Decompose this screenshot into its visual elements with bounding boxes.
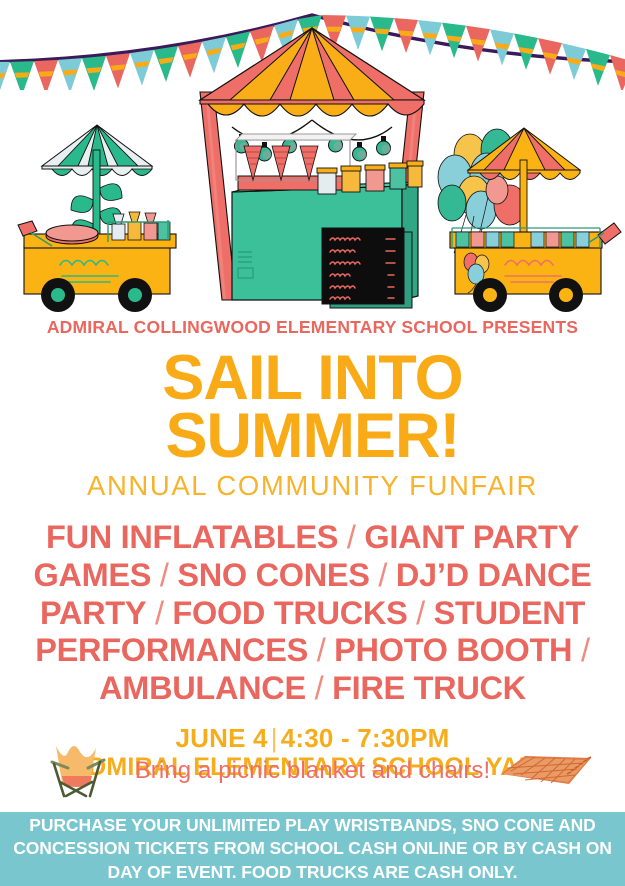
banner-text: PURCHASE YOUR UNLIMITED PLAY WRISTBANDS,… — [0, 814, 625, 883]
activity-separator: / — [308, 632, 334, 668]
activity-separator: / — [306, 670, 332, 706]
bring-row: Bring a picnic blanket and chairs! — [0, 740, 625, 802]
activity-item: FOOD TRUCKS — [172, 595, 407, 631]
activity-separator: / — [370, 557, 396, 593]
activity-separator: / — [151, 557, 177, 593]
title-line-2: SUMMER! — [0, 408, 625, 466]
bring-note: Bring a picnic blanket and chairs! — [135, 757, 491, 785]
poster-text-block: ADMIRAL COLLINGWOOD ELEMENTARY SCHOOL PR… — [0, 318, 625, 782]
activity-separator: / — [572, 632, 589, 668]
picnic-blanket-icon — [495, 750, 595, 792]
camp-chair-icon — [38, 738, 118, 800]
page-title: SAIL INTO SUMMER! — [0, 350, 625, 466]
subtitle: ANNUAL COMMUNITY FUNFAIR — [0, 470, 625, 502]
activity-separator: / — [407, 595, 433, 631]
presents-line: ADMIRAL COLLINGWOOD ELEMENTARY SCHOOL PR… — [0, 318, 625, 337]
activity-item: PHOTO BOOTH — [334, 632, 572, 668]
poster-root: ADMIRAL COLLINGWOOD ELEMENTARY SCHOOL PR… — [0, 0, 625, 886]
activity-item: SNO CONES — [177, 557, 369, 593]
activities-list: FUN INFLATABLES / GIANT PARTY GAMES / SN… — [0, 519, 625, 707]
chalkboard-menu — [322, 228, 412, 308]
activity-separator: / — [146, 595, 172, 631]
activity-item: FIRE TRUCK — [332, 670, 526, 706]
activity-separator: / — [338, 519, 364, 555]
activity-item: FUN INFLATABLES — [46, 519, 338, 555]
left-food-cart — [18, 125, 176, 312]
purchase-banner: PURCHASE YOUR UNLIMITED PLAY WRISTBANDS,… — [0, 812, 625, 886]
activity-item: AMBULANCE — [99, 670, 306, 706]
right-food-cart — [438, 128, 621, 312]
fair-illustration — [0, 0, 625, 320]
